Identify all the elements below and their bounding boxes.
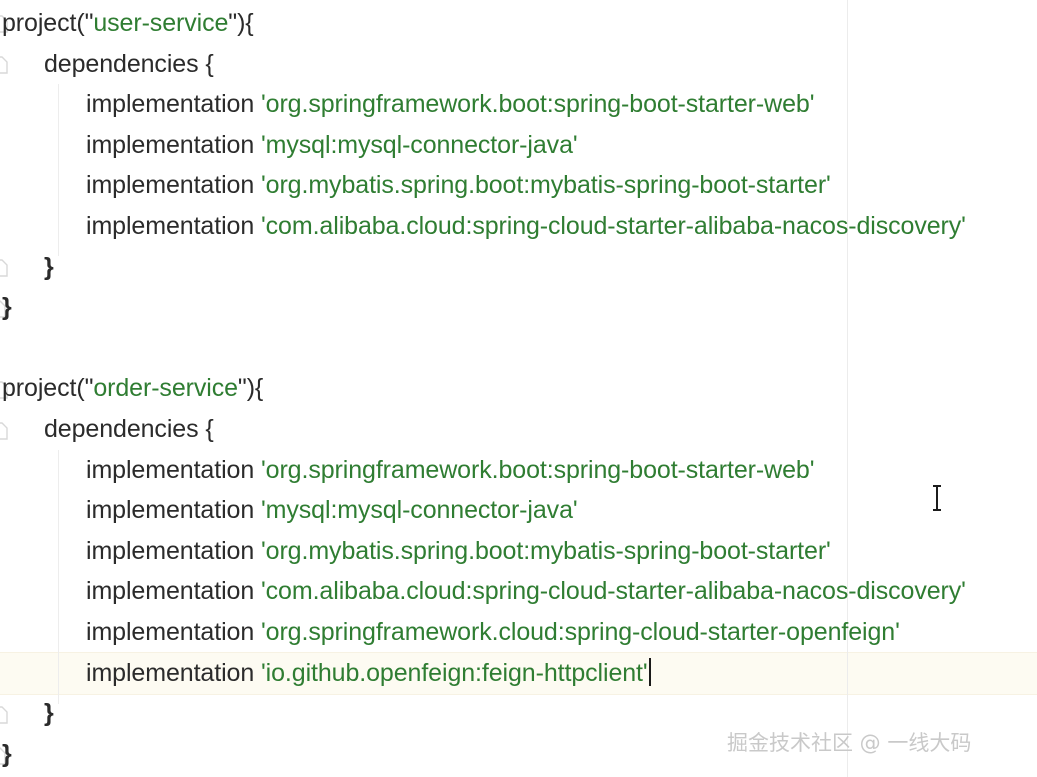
code-token-string: 'org.springframework.cloud:spring-cloud-… bbox=[261, 618, 900, 646]
code-line[interactable]: implementation 'com.alibaba.cloud:spring… bbox=[0, 571, 1037, 612]
code-token-string: 'org.mybatis.spring.boot:mybatis-spring-… bbox=[261, 537, 831, 565]
code-token-string: 'mysql:mysql-connector-java' bbox=[261, 131, 578, 159]
code-token-brace: } bbox=[44, 699, 54, 727]
code-token-plain: implementation bbox=[86, 496, 261, 524]
code-token-string: 'io.github.openfeign:feign-httpclient' bbox=[261, 659, 648, 687]
code-token-plain: ){ bbox=[237, 9, 253, 37]
code-line[interactable] bbox=[0, 328, 1037, 369]
code-token-string: user-service bbox=[93, 9, 228, 37]
code-line[interactable]: dependencies { bbox=[0, 409, 1037, 450]
code-line[interactable]: implementation 'com.alibaba.cloud:spring… bbox=[0, 206, 1037, 247]
code-line[interactable]: implementation 'io.github.openfeign:feig… bbox=[0, 653, 1037, 694]
code-token-string: order-service bbox=[93, 374, 238, 402]
code-token-punct: " bbox=[228, 9, 237, 37]
code-token-plain: implementation bbox=[86, 618, 261, 646]
code-token-string: 'org.springframework.boot:spring-boot-st… bbox=[261, 456, 814, 484]
code-token-plain: dependencies { bbox=[44, 50, 214, 78]
code-editor-surface[interactable]: project("user-service"){dependencies {im… bbox=[0, 0, 1037, 777]
code-token-plain: implementation bbox=[86, 456, 261, 484]
code-token-plain: implementation bbox=[86, 659, 261, 687]
code-token-string: 'com.alibaba.cloud:spring-cloud-starter-… bbox=[261, 212, 966, 240]
code-token-string: 'com.alibaba.cloud:spring-cloud-starter-… bbox=[261, 577, 966, 605]
code-line[interactable]: implementation 'org.mybatis.spring.boot:… bbox=[0, 531, 1037, 572]
code-line[interactable]: implementation 'mysql:mysql-connector-ja… bbox=[0, 125, 1037, 166]
code-token-plain: implementation bbox=[86, 131, 261, 159]
code-token-plain: ){ bbox=[247, 374, 263, 402]
code-line[interactable]: } bbox=[0, 247, 1037, 288]
code-line[interactable]: project("order-service"){ bbox=[0, 368, 1037, 409]
code-line[interactable]: implementation 'org.springframework.boot… bbox=[0, 84, 1037, 125]
code-token-plain: implementation bbox=[86, 171, 261, 199]
code-line[interactable]: implementation 'org.springframework.clou… bbox=[0, 612, 1037, 653]
text-caret bbox=[649, 658, 651, 686]
code-token-plain: dependencies { bbox=[44, 415, 214, 443]
code-token-brace: } bbox=[44, 253, 54, 281]
code-line[interactable]: project("user-service"){ bbox=[0, 3, 1037, 44]
code-token-plain: implementation bbox=[86, 90, 261, 118]
code-line[interactable]: implementation 'mysql:mysql-connector-ja… bbox=[0, 490, 1037, 531]
code-line[interactable]: implementation 'org.springframework.boot… bbox=[0, 450, 1037, 491]
code-token-string: 'mysql:mysql-connector-java' bbox=[261, 496, 578, 524]
code-token-plain: implementation bbox=[86, 577, 261, 605]
code-token-brace: } bbox=[2, 740, 12, 768]
code-token-plain: implementation bbox=[86, 537, 261, 565]
code-line[interactable]: dependencies { bbox=[0, 44, 1037, 85]
code-token-plain: project( bbox=[2, 374, 85, 402]
code-token-string: 'org.springframework.boot:spring-boot-st… bbox=[261, 90, 814, 118]
code-line[interactable]: implementation 'org.mybatis.spring.boot:… bbox=[0, 165, 1037, 206]
code-token-brace: } bbox=[2, 293, 12, 321]
code-token-plain: implementation bbox=[86, 212, 261, 240]
code-token-plain: project( bbox=[2, 9, 85, 37]
code-line[interactable]: } bbox=[0, 287, 1037, 328]
code-editor-screenshot: project("user-service"){dependencies {im… bbox=[0, 0, 1037, 777]
code-token-punct: " bbox=[238, 374, 247, 402]
code-token-string: 'org.mybatis.spring.boot:mybatis-spring-… bbox=[261, 171, 831, 199]
watermark-text: 掘金技术社区 @ 一线大码 bbox=[727, 727, 971, 757]
mouse-text-cursor-icon bbox=[931, 485, 943, 511]
